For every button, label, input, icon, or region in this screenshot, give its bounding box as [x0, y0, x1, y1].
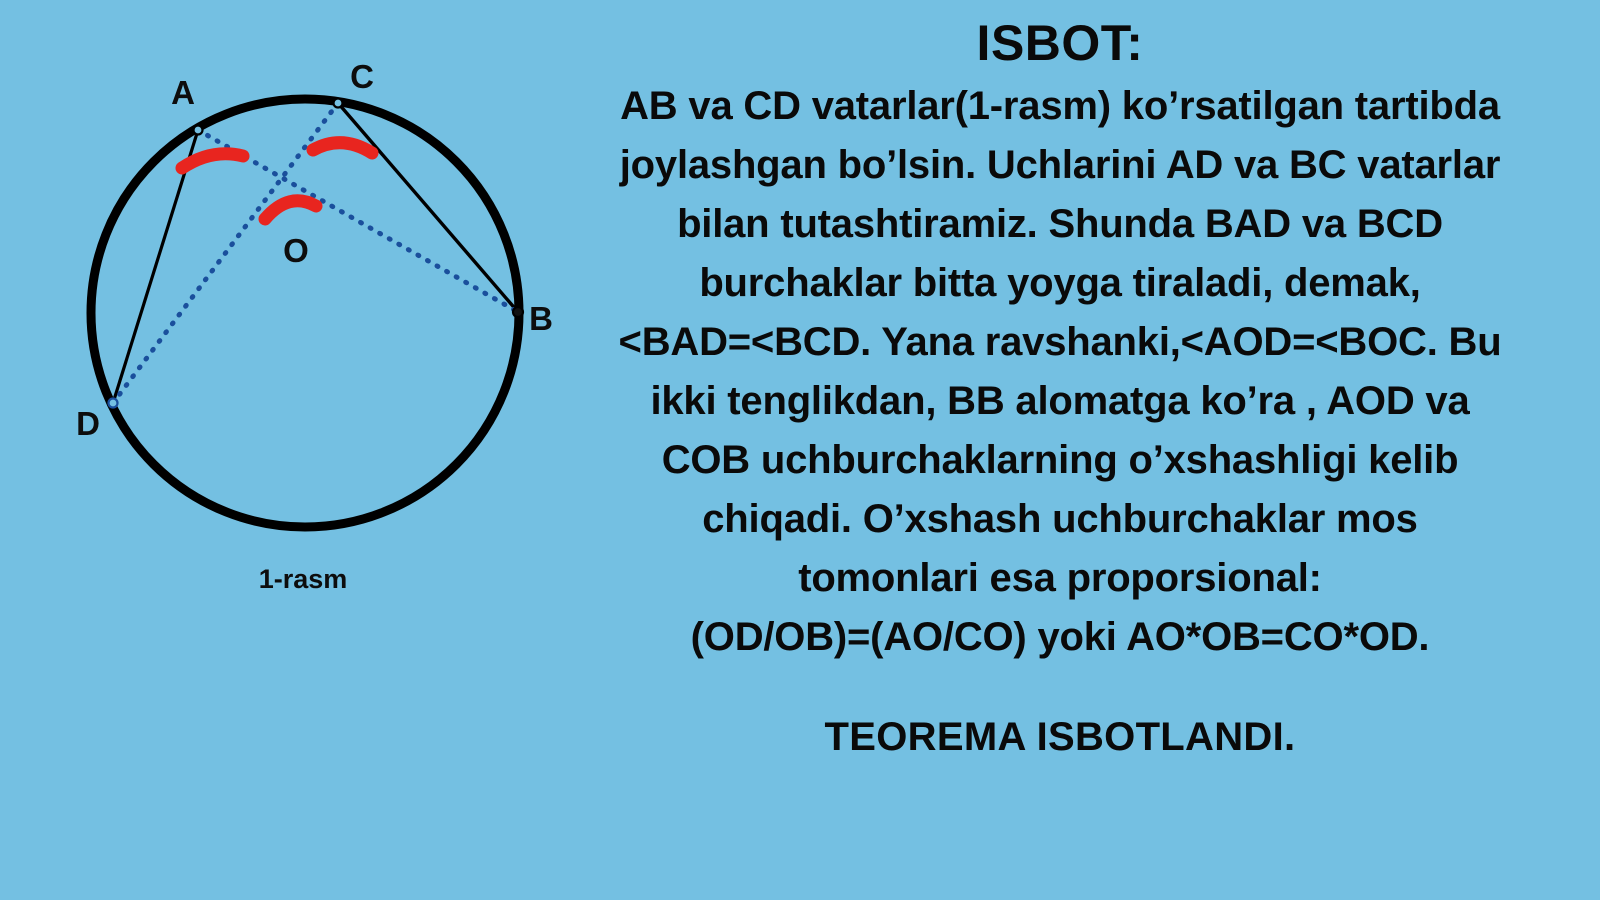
- circle-diagram: A C B D O 1-rasm: [0, 0, 560, 900]
- proof-line: <BAD=<BCD. Yana ravshanki,<AOD=<BOC. Bu: [525, 313, 1595, 372]
- proof-line: AB va CD vatarlar(1-rasm) ko’rsatilgan t…: [525, 77, 1595, 136]
- proof-line: tomonlari esa proporsional:: [525, 549, 1595, 608]
- angle-arc-at-o: [265, 201, 316, 219]
- proof-conclusion: TEOREMA ISBOTLANDI.: [825, 715, 1296, 760]
- point-marker-a: [194, 126, 203, 135]
- proof-line: (OD/OB)=(AO/CO) yoki AO*OB=CO*OD.: [525, 608, 1595, 667]
- angle-arc-at-a: [182, 154, 243, 168]
- point-label-a: A: [171, 74, 195, 111]
- proof-line: burchaklar bitta yoyga tiraladi, demak,: [525, 254, 1595, 313]
- proof-text-panel: ISBOT: AB va CD vatarlar(1-rasm) ko’rsat…: [520, 0, 1600, 900]
- proof-line: bilan tutashtiramiz. Shunda BAD va BCD: [525, 195, 1595, 254]
- proof-line: chiqadi. O’xshash uchburchaklar mos: [525, 490, 1595, 549]
- angle-arc-at-c: [313, 143, 372, 153]
- circle-outline: [91, 99, 519, 527]
- point-label-o: O: [283, 232, 309, 269]
- point-label-d: D: [76, 405, 100, 442]
- proof-line: joylashgan bo’lsin. Uchlarini AD va BC v…: [525, 136, 1595, 195]
- point-marker-c: [334, 99, 343, 108]
- proof-title: ISBOT:: [977, 14, 1144, 73]
- point-marker-d: [109, 399, 118, 408]
- proof-line: ikki tenglikdan, BB alomatga ko’ra , AOD…: [525, 372, 1595, 431]
- geometry-figure-panel: A C B D O 1-rasm: [0, 0, 560, 900]
- proof-body: AB va CD vatarlar(1-rasm) ko’rsatilgan t…: [525, 77, 1595, 667]
- figure-caption: 1-rasm: [259, 564, 348, 594]
- point-label-c: C: [350, 58, 374, 95]
- proof-line: COB uchburchaklarning o’xshashligi kelib: [525, 431, 1595, 490]
